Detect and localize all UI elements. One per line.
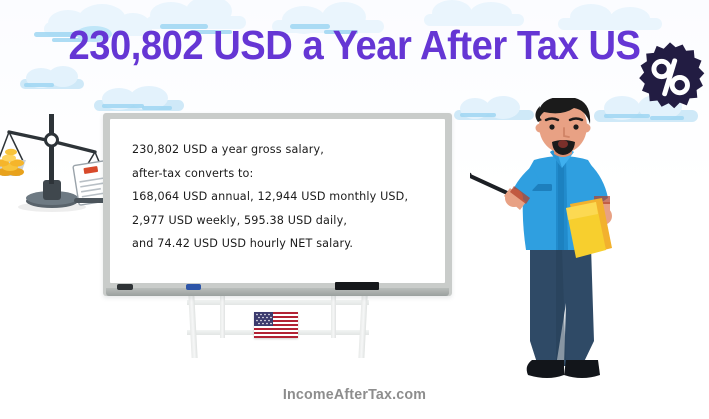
stand-leg-inner-right — [331, 296, 336, 338]
marker-blue-icon — [186, 284, 201, 290]
whiteboard: 230,802 USD a year gross salary, after-t… — [103, 113, 452, 296]
whiteboard-surface: 230,802 USD a year gross salary, after-t… — [110, 119, 445, 283]
teacher-illustration — [470, 98, 660, 388]
whiteboard-line-2: after-tax converts to: — [132, 162, 431, 186]
whiteboard-line-3: 168,064 USD annual, 12,944 USD monthly U… — [132, 185, 431, 209]
whiteboard-line-1: 230,802 USD a year gross salary, — [132, 138, 431, 162]
percent-badge-icon — [635, 41, 705, 111]
whiteboard-text: 230,802 USD a year gross salary, after-t… — [132, 138, 431, 256]
site-brand: IncomeAfterTax.com — [18, 386, 692, 403]
whiteboard-line-4: 2,977 USD weekly, 595.38 USD daily, — [132, 209, 431, 233]
stand-leg-left — [188, 296, 197, 358]
balance-scale-icon — [0, 106, 108, 216]
stand-leg-right — [358, 296, 367, 358]
whiteboard-tray — [106, 288, 449, 296]
stand-crossbar-top — [187, 300, 369, 305]
cloud-decoration — [18, 66, 88, 90]
gold-coins — [0, 149, 24, 176]
infographic-page: 230,802 USD a Year After Tax US — [0, 0, 709, 419]
stand-leg-inner-left — [220, 296, 225, 338]
eraser-icon — [335, 282, 379, 290]
us-flag-icon — [254, 312, 298, 338]
whiteboard-line-5: and 74.42 USD USD hourly NET salary. — [132, 232, 431, 256]
page-title: 230,802 USD a Year After Tax US — [25, 22, 684, 68]
marker-black-icon — [117, 284, 133, 290]
